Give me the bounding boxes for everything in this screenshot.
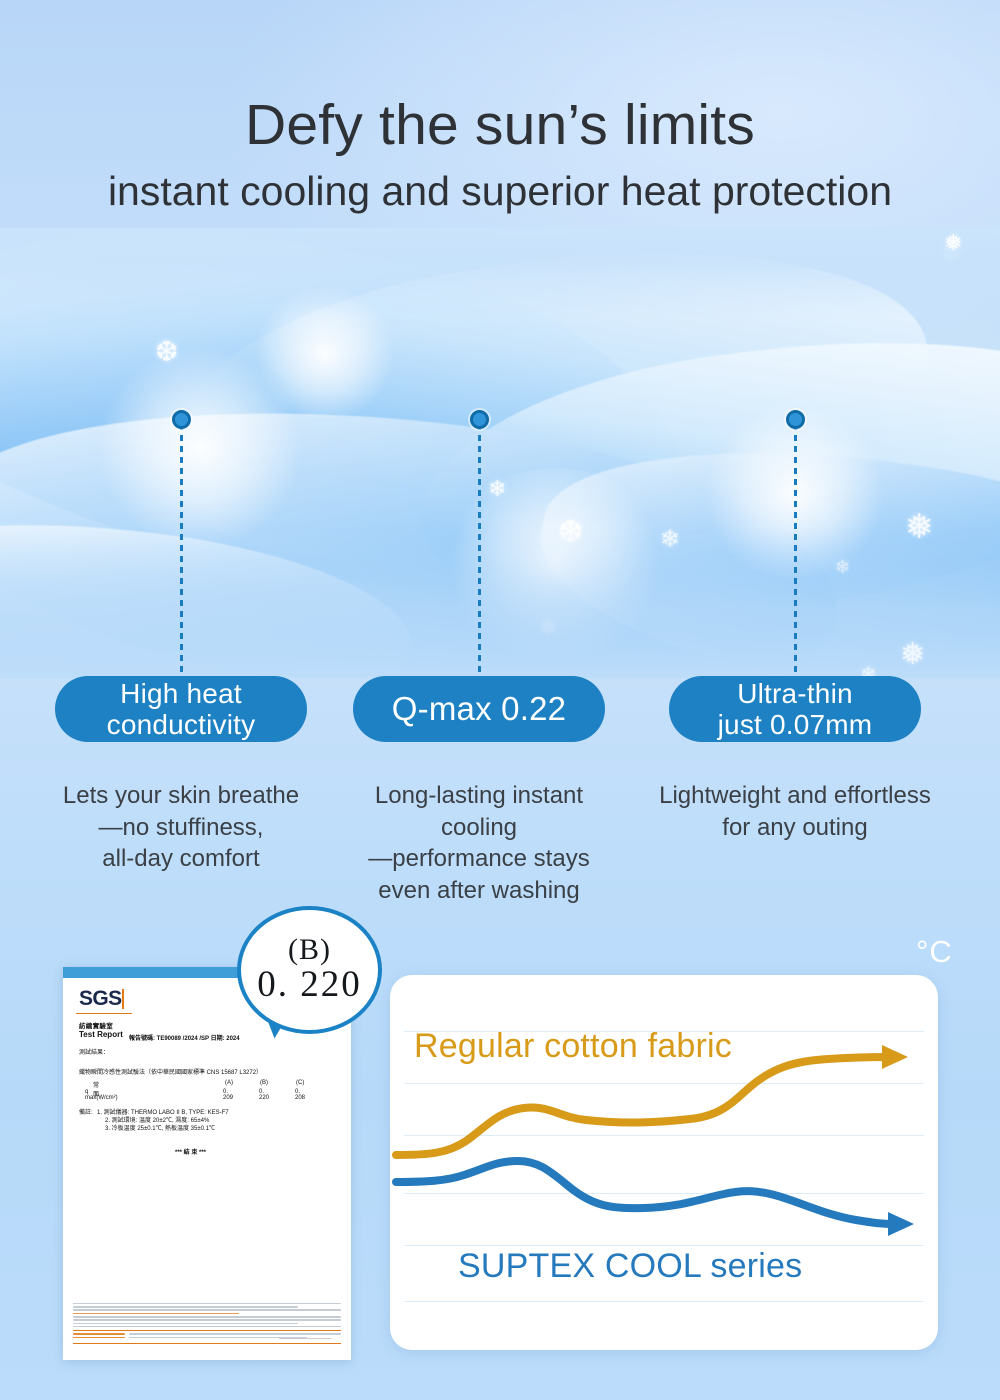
fineprint-line [73, 1306, 298, 1308]
document-end-mark: *** 結 束 *** [175, 1147, 206, 1156]
hero-top-fade [0, 228, 1000, 318]
qmax-callout: (B) 0. 220 [237, 906, 382, 1034]
connector-dotted-line [794, 424, 797, 692]
chart-label-regular-cotton: Regular cotton fabric [414, 1027, 732, 1066]
connector-feature-3 [794, 410, 797, 678]
connector-ring-marker [786, 410, 805, 429]
caption-line-1: Long-lasting instant cooling [343, 780, 615, 843]
qmax-value: 0. 220 [257, 965, 362, 1006]
badge-line-1: High heat [107, 678, 256, 709]
fineprint-line [73, 1326, 341, 1328]
callout-circle: (B) 0. 220 [237, 906, 382, 1034]
sgs-logo: SGS [79, 987, 122, 1011]
feature-caption-2: Long-lasting instant cooling —performanc… [343, 780, 615, 907]
series-curve-suptex-cool [396, 1161, 894, 1224]
feature-badge-qmax[interactable]: Q-max 0.22 [353, 676, 605, 742]
caption-line-2: —no stuffiness, [45, 812, 317, 844]
chart-label-suptex-cool: SUPTEX COOL series [458, 1247, 802, 1286]
table-col-c: (C) [296, 1080, 304, 1086]
table-col-b: (B) [260, 1080, 268, 1086]
table-row-label: q max(W/cm²) [85, 1089, 118, 1101]
hero-bottom-fade [0, 528, 1000, 678]
infographic-page: ❅ ❅ ❆ ❄ ❆ ❄ ❅ ❄ ❅ ❅ ❄ Defy the sun’s lim… [0, 0, 1000, 1400]
badge-line-2: just 0.07mm [718, 709, 873, 740]
fineprint-link-line[interactable] [73, 1313, 239, 1315]
document-results-label: 測試結果： [79, 1047, 109, 1056]
page-subtitle: instant cooling and superior heat protec… [0, 168, 1000, 215]
snowflake-icon: ❅ [944, 232, 962, 254]
table-value-a: 0. 209 [223, 1089, 233, 1101]
table-col-a: (A) [225, 1080, 233, 1086]
caption-line-3: all-day comfort [45, 843, 317, 875]
series-arrowhead-suptex-cool [888, 1212, 914, 1236]
document-notes-label: 備註: [79, 1107, 93, 1116]
series-curve-regular-cotton [396, 1057, 890, 1155]
snowflake-icon: ❅ [900, 640, 925, 670]
connector-ring-marker [470, 410, 489, 429]
hero-ice-ribbon-artwork: ❅ ❅ ❆ ❄ ❆ ❄ ❅ ❄ [0, 228, 1000, 678]
badge-line-1: Q-max 0.22 [392, 691, 566, 728]
feature-caption-3: Lightweight and effortless for any outin… [659, 780, 931, 843]
document-lab-name: 紡織實驗室 [79, 1020, 113, 1030]
badge-line-2: conductivity [107, 709, 256, 740]
connector-dotted-line [478, 424, 481, 692]
connector-feature-1 [180, 410, 183, 678]
document-footer-fineprint [73, 1303, 341, 1346]
caption-line-3: even after washing [343, 875, 615, 907]
table-value-c: 0. 208 [295, 1089, 305, 1101]
caption-line-1: Lets your skin breathe [45, 780, 317, 812]
series-arrowhead-regular-cotton [882, 1045, 908, 1069]
footer-divider [73, 1343, 341, 1344]
fineprint-line [73, 1316, 341, 1318]
caption-line-2: —performance stays [343, 843, 615, 875]
footer-company-label [73, 1333, 125, 1340]
caption-line-2: for any outing [659, 812, 931, 844]
chart-unit-label: °C [916, 934, 953, 970]
feature-badge-high-heat-conductivity[interactable]: High heat conductivity [55, 676, 307, 742]
fineprint-line [73, 1323, 298, 1325]
table-value-b: 0. 220 [259, 1089, 269, 1101]
footer-member-mark [279, 1338, 331, 1341]
feature-caption-1: Lets your skin breathe —no stuffiness, a… [45, 780, 317, 875]
connector-feature-2 [478, 410, 481, 678]
document-note-3: 3. 冷板温度 25±0.1℃, 熱板温度 35±0.1℃ [105, 1123, 215, 1132]
footer-divider [73, 1330, 341, 1331]
snowflake-icon: ❆ [155, 338, 178, 366]
feature-badge-ultra-thin[interactable]: Ultra-thin just 0.07mm [669, 676, 921, 742]
qmax-grade-label: (B) [288, 935, 331, 965]
page-title: Defy the sun’s limits [0, 92, 1000, 158]
fineprint-line [73, 1309, 341, 1311]
badge-line-1: Ultra-thin [718, 678, 873, 709]
connector-ring-marker [172, 410, 191, 429]
temperature-comparison-chart: Regular cotton fabric SUPTEX COOL series [390, 975, 938, 1350]
snowflake-icon: ❄ [488, 478, 506, 500]
fineprint-line [73, 1303, 341, 1305]
document-method-line: 織物瞬間冷感性測試驗法（依中華民國國家標準 CNS 15687 L3272） [79, 1067, 262, 1076]
document-title: Test Report [79, 1030, 123, 1039]
fineprint-line [73, 1319, 341, 1321]
caption-line-1: Lightweight and effortless [659, 780, 931, 812]
connector-dotted-line [180, 424, 183, 692]
document-report-meta: 報告號碼: TE90089 /2024 /SP 日期: 2024 [129, 1033, 240, 1042]
